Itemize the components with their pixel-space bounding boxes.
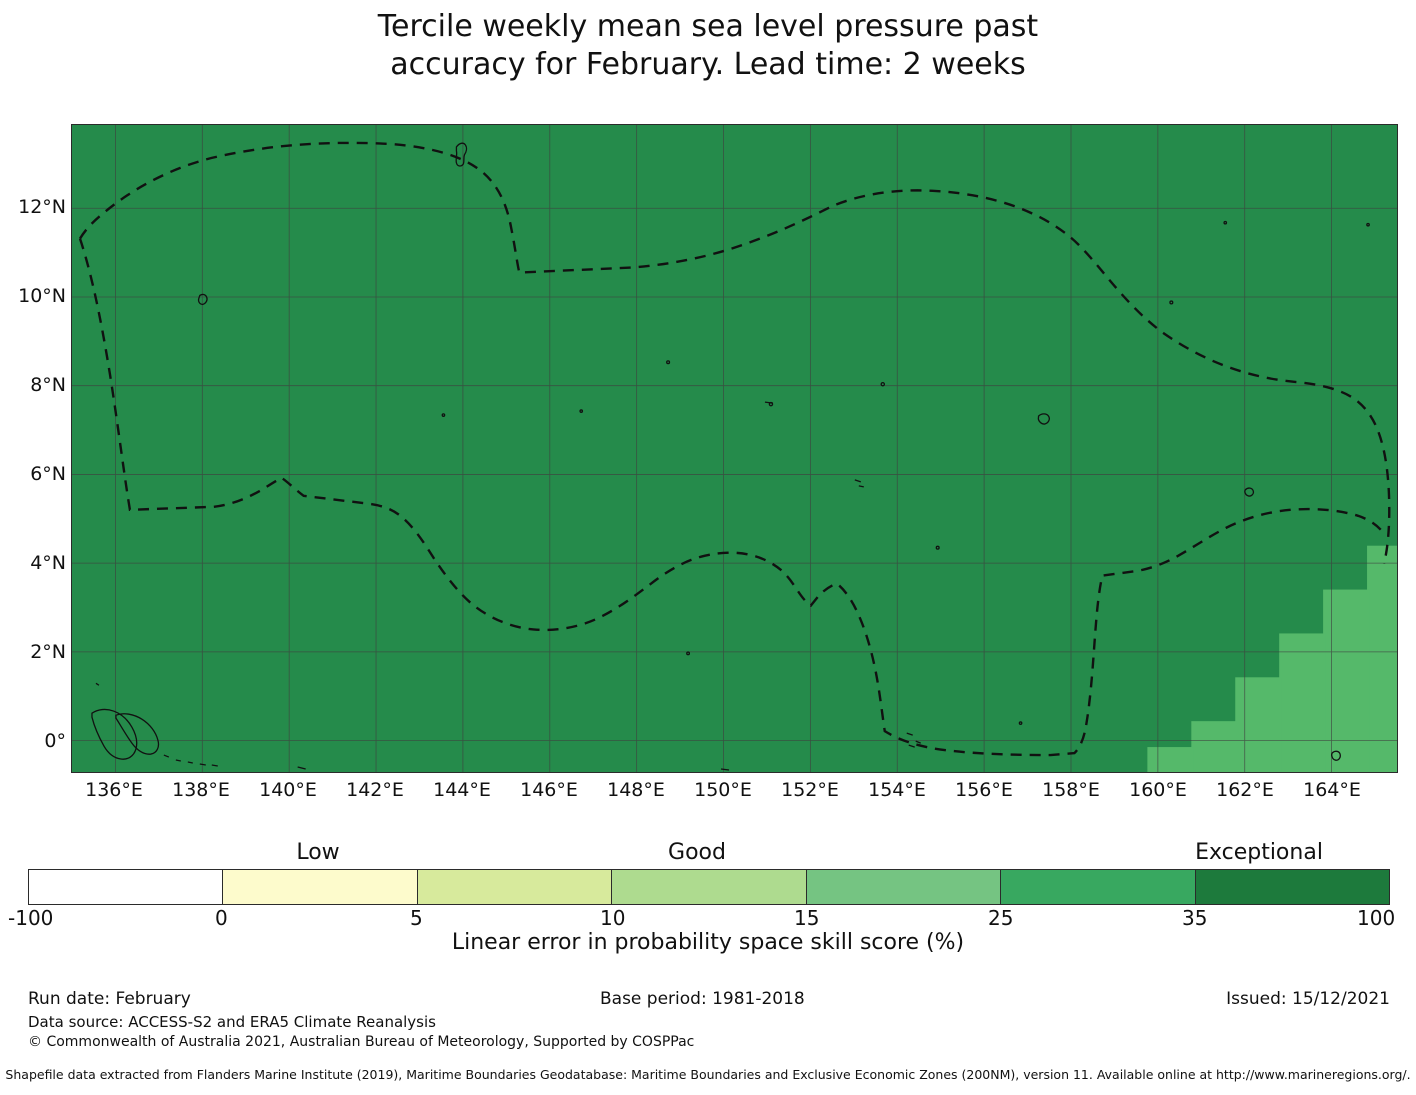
x-tick-label: 138°E	[172, 779, 230, 801]
colorbar-segment-25-35	[1001, 870, 1195, 904]
x-tick-label: 160°E	[1129, 779, 1187, 801]
y-tick-label: 10°N	[18, 285, 66, 307]
colorbar-category-good: Good	[668, 840, 726, 865]
x-tick-label: 154°E	[868, 779, 926, 801]
x-tick-label: 148°E	[607, 779, 665, 801]
issued-date-text: Issued: 15/12/2021	[1226, 989, 1390, 1009]
data-source-text: Data source: ACCESS-S2 and ERA5 Climate …	[28, 1013, 436, 1031]
colorbar-tick: -100	[8, 906, 53, 930]
colorbar-category-low: Low	[296, 840, 339, 865]
run-date-text: Run date: February	[28, 989, 191, 1009]
x-tick-label: 152°E	[781, 779, 839, 801]
footer-row: Run date: February Base period: 1981-201…	[0, 989, 1416, 1011]
colorbar-tick: 100	[1357, 906, 1395, 930]
colorbar-tick: 25	[988, 906, 1013, 930]
colorbar-tick-labels: -100 0 5 10 15 25 35 100	[0, 906, 1416, 932]
colorbar-tick: 35	[1182, 906, 1207, 930]
y-tick-label: 8°N	[30, 374, 66, 396]
map-canvas	[72, 125, 1397, 772]
colorbar-tick: 5	[410, 906, 423, 930]
x-tick-label: 158°E	[1042, 779, 1100, 801]
colorbar-axis-label: Linear error in probability space skill …	[0, 930, 1416, 955]
y-tick-label: 12°N	[18, 196, 66, 218]
page-title: Tercile weekly mean sea level pressure p…	[0, 8, 1416, 84]
x-tick-label: 144°E	[433, 779, 491, 801]
colorbar-category-exceptional: Exceptional	[1195, 840, 1323, 865]
colorbar-tick: 15	[794, 906, 819, 930]
x-tick-label: 164°E	[1303, 779, 1361, 801]
colorbar-segments	[28, 869, 1390, 905]
y-tick-label: 0°	[44, 730, 66, 752]
y-tick-label: 6°N	[30, 463, 66, 485]
colorbar-segment-0-5	[223, 870, 417, 904]
x-tick-label: 146°E	[520, 779, 578, 801]
colorbar-segment-10-15	[612, 870, 806, 904]
x-tick-label: 140°E	[259, 779, 317, 801]
shapefile-attribution-text: Shapefile data extracted from Flanders M…	[0, 1067, 1416, 1082]
colorbar-category-labels: Low Good Exceptional	[0, 840, 1416, 868]
map-frame	[71, 124, 1398, 773]
colorbar-segment--100-0	[29, 870, 223, 904]
y-tick-label: 2°N	[30, 641, 66, 663]
colorbar	[28, 869, 1390, 905]
base-period-text: Base period: 1981-2018	[600, 989, 805, 1009]
colorbar-segment-15-25	[807, 870, 1001, 904]
colorbar-tick: 10	[600, 906, 625, 930]
x-tick-label: 142°E	[346, 779, 404, 801]
x-axis-labels: 136°E 138°E 140°E 142°E 144°E 146°E 148°…	[0, 779, 1416, 809]
skill-band-35-100	[72, 125, 1397, 772]
y-tick-label: 4°N	[30, 552, 66, 574]
colorbar-tick: 0	[215, 906, 228, 930]
x-tick-label: 150°E	[694, 779, 752, 801]
x-tick-label: 136°E	[85, 779, 143, 801]
copyright-text: © Commonwealth of Australia 2021, Austra…	[28, 1034, 694, 1050]
x-tick-label: 162°E	[1216, 779, 1274, 801]
colorbar-segment-5-10	[418, 870, 612, 904]
map-plot-area	[71, 124, 1398, 773]
colorbar-segment-35-100	[1196, 870, 1389, 904]
x-tick-label: 156°E	[955, 779, 1013, 801]
